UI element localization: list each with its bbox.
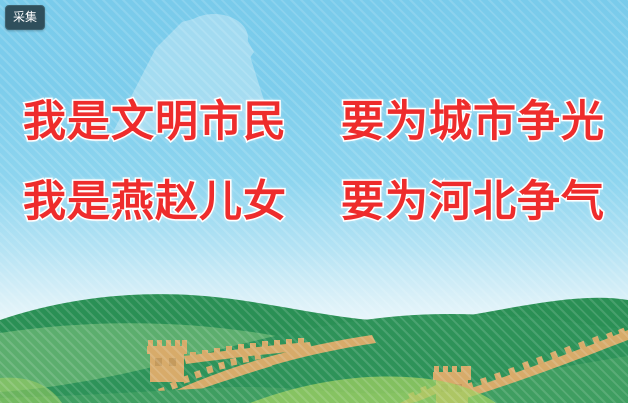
slogan-line-2-right: 要为河北争气 [341, 177, 605, 227]
slogan-line-2: 我是燕赵儿女 要为河北争气 [0, 181, 628, 224]
poster-canvas: 我是文明市民 要为城市争光 我是燕赵儿女 要为河北争气 采集 [0, 0, 628, 403]
slogan-line-1: 我是文明市民 要为城市争光 [0, 101, 628, 144]
slogan-line-2-left: 我是燕赵儿女 [23, 177, 287, 227]
capture-button[interactable]: 采集 [5, 5, 45, 30]
slogan-line-1-right: 要为城市争光 [341, 97, 605, 147]
slogan-line-1-left: 我是文明市民 [23, 97, 287, 147]
